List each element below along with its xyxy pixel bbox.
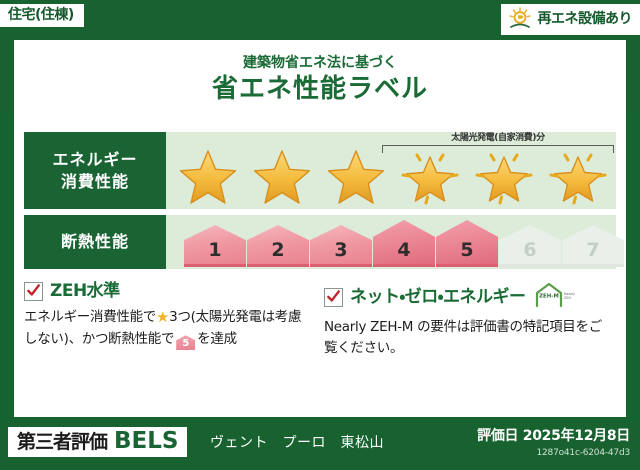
star-icon bbox=[320, 146, 392, 206]
property-name: ヴェント プーロ 東松山 bbox=[210, 436, 384, 450]
grade-badge-2: 2 bbox=[247, 225, 309, 267]
grade-badge-6: 6 bbox=[499, 225, 561, 267]
grade-badge-1: 1 bbox=[184, 225, 246, 267]
net-zero-energy-checkbox[interactable] bbox=[324, 288, 343, 307]
solar-caption: 太陽光発電(自家消費)分 bbox=[382, 134, 614, 144]
zeh-standard-checkbox[interactable] bbox=[24, 282, 43, 301]
title-subtitle: 建築物省エネ法に基づく bbox=[14, 56, 626, 71]
energy-label-line1: エネルギー bbox=[52, 149, 137, 171]
star-rating bbox=[172, 146, 614, 206]
zeh-standard-body: エネルギー消費性能で★3つ(太陽光発電は考慮しない)、かつ断熱性能で5を達成 bbox=[24, 306, 314, 350]
page-title: 省エネ性能ラベル bbox=[14, 75, 626, 104]
footer-bar: 第三者評価 BELS ヴェント プーロ 東松山 評価日 2025年12月8日 1… bbox=[0, 422, 640, 470]
grade-badge-5: 5 bbox=[436, 220, 498, 267]
label-card: 建築物省エネ法に基づく 省エネ性能ラベル エネルギー 消費性能 太陽光発電(自家… bbox=[14, 40, 626, 417]
zeh-m-house-logo: ZEH-M Nearly ZEH bbox=[533, 282, 577, 312]
net-zero-energy-title: ネット・ゼロ・エネルギー bbox=[350, 289, 526, 306]
zeh-body-part3: を達成 bbox=[197, 331, 237, 347]
evaluation-date: 評価日 2025年12月8日 bbox=[477, 429, 630, 443]
grade-badge-7: 7 bbox=[562, 225, 624, 267]
bels-jp-label: 第三者評価 bbox=[17, 433, 107, 452]
insulation-label-text: 断熱性能 bbox=[61, 231, 129, 253]
house-type-tag: 住宅(住棟) bbox=[0, 4, 84, 27]
zeh-body-part1: エネルギー消費性能で bbox=[24, 309, 156, 325]
star-icon bbox=[172, 146, 244, 206]
statements-section: ZEH水準 エネルギー消費性能で★3つ(太陽光発電は考慮しない)、かつ断熱性能で… bbox=[24, 282, 616, 359]
energy-performance-row: エネルギー 消費性能 太陽光発電(自家消費)分 bbox=[24, 132, 616, 209]
grade-badge-3: 3 bbox=[310, 225, 372, 267]
svg-text:ZEH-M: ZEH-M bbox=[539, 293, 559, 299]
performance-rows: エネルギー 消費性能 太陽光発電(自家消費)分 bbox=[24, 132, 616, 275]
bels-en-label: BELS bbox=[114, 430, 178, 453]
energy-performance-body: 太陽光発電(自家消費)分 bbox=[166, 132, 616, 209]
star-icon bbox=[246, 146, 318, 206]
insulation-grade-scale: 1 2 3 4 5 6 7 bbox=[184, 220, 624, 267]
checkmark-icon bbox=[326, 289, 341, 304]
title-block: 建築物省エネ法に基づく 省エネ性能ラベル bbox=[14, 56, 626, 104]
net-zero-energy-heading: ネット・ゼロ・エネルギー ZEH-M Nearly ZEH bbox=[324, 282, 614, 312]
energy-label-line2: 消費性能 bbox=[61, 171, 129, 193]
renewable-energy-tag-label: 再エネ設備あり bbox=[538, 12, 633, 26]
evaluation-id: 1287o41c-6204-47d3 bbox=[536, 449, 630, 458]
sun-solar-icon bbox=[507, 7, 533, 31]
grade-badge-4: 4 bbox=[373, 220, 435, 267]
zeh-standard-statement: ZEH水準 エネルギー消費性能で★3つ(太陽光発電は考慮しない)、かつ断熱性能で… bbox=[24, 282, 314, 359]
star-sparkle-icon bbox=[394, 146, 466, 206]
mini-star-icon: ★ bbox=[156, 308, 169, 326]
renewable-energy-tag: 再エネ設備あり bbox=[501, 4, 640, 35]
energy-performance-label: 住宅(住棟) 再エネ設備あり 建築物省エネ法に基づく 省エネ性能ラベル bbox=[0, 0, 640, 470]
net-zero-energy-statement: ネット・ゼロ・エネルギー ZEH-M Nearly ZEH Nearly ZEH… bbox=[324, 282, 614, 359]
bels-certification-badge: 第三者評価 BELS bbox=[8, 427, 187, 457]
checkmark-icon bbox=[26, 283, 41, 298]
mini-grade-badge: 5 bbox=[176, 335, 195, 350]
zeh-standard-heading: ZEH水準 bbox=[24, 282, 314, 301]
svg-text:ZEH: ZEH bbox=[564, 296, 571, 300]
house-type-tag-label: 住宅(住棟) bbox=[8, 7, 74, 23]
zeh-standard-title: ZEH水準 bbox=[50, 283, 120, 300]
star-sparkle-icon bbox=[468, 146, 540, 206]
insulation-performance-row: 断熱性能 1 2 3 4 5 6 7 bbox=[24, 215, 616, 269]
insulation-performance-label: 断熱性能 bbox=[24, 215, 166, 269]
energy-performance-label: エネルギー 消費性能 bbox=[24, 132, 166, 209]
star-sparkle-icon bbox=[542, 146, 614, 206]
insulation-performance-body: 1 2 3 4 5 6 7 bbox=[166, 215, 616, 269]
net-zero-energy-body: Nearly ZEH-M の要件は評価書の特記項目をご覧ください。 bbox=[324, 317, 614, 359]
